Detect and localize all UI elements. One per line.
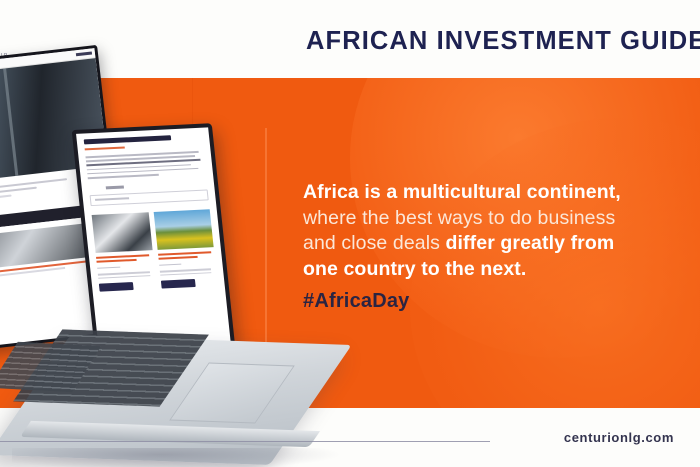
headline-line-3-bold: differ greatly from [446,232,615,254]
laptop-field-label [105,185,124,189]
laptop-card-text-line [98,275,150,279]
laptop-card-meta [159,263,182,266]
laptop-card-text [98,271,155,279]
headline-line-4: one country to the next. [303,257,675,283]
headline-line-3: and close deals differ greatly from [303,231,675,257]
laptop-page-subtitle [85,146,125,150]
laptop-card-meta [97,266,120,269]
laptop-paragraph [85,151,205,179]
laptop-card-headline [96,258,136,262]
headline-line-1: Africa is a multicultural continent, [303,180,675,206]
laptop-card-headline [158,255,198,259]
footer-website-url: centurionlg.com [564,430,674,445]
laptop-card-image [153,209,213,250]
laptop [12,126,312,456]
headline-copy: Africa is a multicultural continent, whe… [303,180,675,313]
african-investment-guide-banner: ON LAW GROUP AFRICAN INVESTMENT GUIDE [0,0,700,467]
laptop-card-headline [157,251,210,256]
page-title: AFRICAN INVESTMENT GUIDE [306,27,700,56]
laptop-shadow [12,448,342,467]
laptop-screen [76,127,231,356]
laptop-card [153,209,218,289]
headline-line-3-light: and close deals [303,232,446,254]
laptop-card-headline [96,254,149,259]
laptop-text-line [88,174,159,179]
laptop-card-row [92,209,218,292]
laptop-card-button [99,282,134,292]
laptop-card-button [160,279,195,289]
laptop-card [92,212,157,292]
laptop-input-placeholder [95,197,129,201]
monitor-site-logo [76,51,92,56]
laptop-lid [72,123,237,365]
laptop-page-title [84,135,172,144]
laptop-search-input [89,189,208,206]
headline-line-2: where the best ways to do business [303,206,675,232]
laptop-card-image [92,212,152,253]
hashtag: #AfricaDay [303,290,675,313]
devices-illustration [0,40,340,460]
laptop-card-text [159,268,216,276]
footer-divider [0,441,490,442]
laptop-card-text-line [160,272,212,276]
monitor-text-line [0,194,12,203]
